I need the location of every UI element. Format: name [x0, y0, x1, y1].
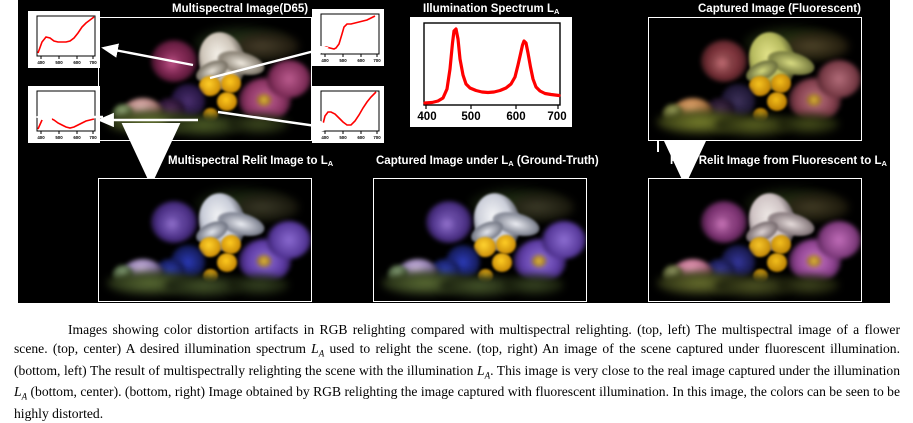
flower-scene-fluorescent [649, 18, 861, 140]
spectrum-plot-top-right: 400500 600700 [312, 9, 384, 66]
svg-text:400: 400 [417, 111, 436, 123]
title-captured-image-ground-truth: Captured Image under LA (Ground-Truth) [376, 155, 599, 168]
flower-scene-ground-truth [374, 179, 586, 301]
svg-text:500: 500 [55, 60, 63, 65]
spectrum-svg-top-left: 400500 600700 [29, 12, 99, 67]
svg-text:600: 600 [357, 135, 365, 140]
svg-text:400: 400 [321, 58, 329, 63]
illumination-spectrum-svg: 400500 600700 [410, 17, 572, 127]
svg-text:500: 500 [55, 135, 63, 140]
svg-text:600: 600 [357, 58, 365, 63]
spectrum-svg-top-right: 400500 600700 [313, 10, 383, 65]
svg-text:600: 600 [506, 111, 525, 123]
caption-part-4: (bottom, center). (bottom, right) Image … [14, 384, 900, 420]
svg-text:700: 700 [373, 135, 381, 140]
caption-var-la-1: LA [311, 341, 324, 356]
flower-scene-rgb-relit [649, 179, 861, 301]
photo-rgb-relit-distorted [648, 178, 862, 302]
caption-part-3: . This image is very close to the real i… [490, 363, 900, 378]
svg-text:700: 700 [373, 58, 381, 63]
title-captured-image-fluorescent: Captured Image (Fluorescent) [698, 3, 861, 15]
spectrum-svg-bottom-left: 400500 600700 [29, 87, 99, 142]
svg-text:400: 400 [321, 135, 329, 140]
illumination-spectrum-chart: 400500 600700 [410, 17, 572, 127]
title-rgb-relit-image: RGB Relit Image from Fluorescent to LA [670, 155, 887, 168]
photo-captured-ground-truth [373, 178, 587, 302]
caption-var-la-2: LA [477, 363, 490, 378]
spectrum-plot-bottom-right: 400500 600700 [312, 86, 384, 143]
svg-text:700: 700 [89, 135, 97, 140]
flower-scene-d65 [99, 18, 311, 140]
svg-text:500: 500 [461, 111, 480, 123]
svg-text:700: 700 [89, 60, 97, 65]
svg-text:600: 600 [73, 60, 81, 65]
figure-root: Multispectral Image(D65) Illumination Sp… [0, 0, 913, 417]
spectrum-svg-bottom-right: 400500 600700 [313, 87, 383, 142]
figure-black-panel: Multispectral Image(D65) Illumination Sp… [18, 0, 890, 303]
svg-text:500: 500 [339, 135, 347, 140]
svg-text:400: 400 [37, 135, 45, 140]
flower-scene-relit-multispectral [99, 179, 311, 301]
figure-caption: Images showing color distortion artifact… [14, 320, 900, 423]
title-multispectral-image-d65: Multispectral Image(D65) [172, 3, 308, 15]
photo-multispectral-d65 [98, 17, 312, 141]
svg-text:600: 600 [73, 135, 81, 140]
svg-text:500: 500 [339, 58, 347, 63]
title-illumination-spectrum: Illumination Spectrum LA [423, 3, 559, 16]
photo-captured-fluorescent [648, 17, 862, 141]
spectrum-plot-top-left: 400500 600700 [28, 11, 100, 68]
svg-text:700: 700 [547, 111, 566, 123]
title-multispectral-relit-image: Multispectral Relit Image to LA [168, 155, 333, 168]
svg-text:400: 400 [37, 60, 45, 65]
photo-multispectral-relit [98, 178, 312, 302]
spectrum-plot-bottom-left: 400500 600700 [28, 86, 100, 143]
caption-var-la-3: LA [14, 384, 27, 399]
